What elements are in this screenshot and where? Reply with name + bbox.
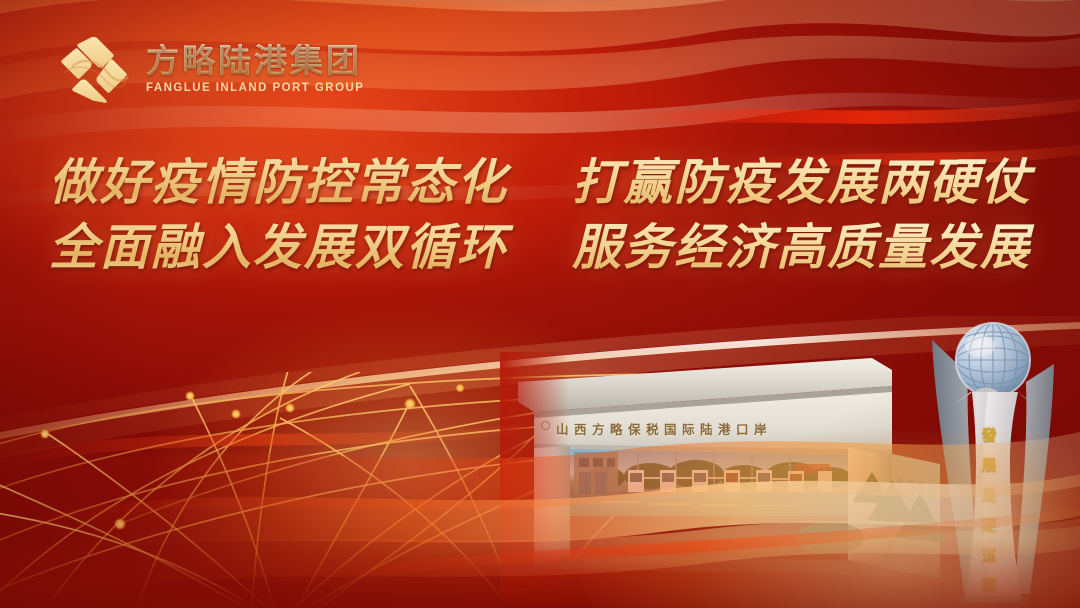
banner-poster: 山西方略保税国际陆港口岸	[0, 0, 1080, 608]
headline-line-2b: 服务经济高质量发展	[572, 218, 1031, 276]
brand-logo[interactable]: 方略陆港集团 FANGLUE INLAND PORT GROUP	[56, 33, 364, 105]
brand-name-en: FANGLUE INLAND PORT GROUP	[146, 82, 364, 94]
headline-line-1a: 做好疫情防控常态化	[49, 153, 508, 211]
fanglue-diamond-logo-icon	[56, 33, 132, 105]
headline-line-2a: 全面融入发展双循环	[49, 218, 508, 276]
headline-line-2: 全面融入发展双循环 服务经济高质量发展	[0, 215, 1080, 280]
headline-line-1: 做好疫情防控常态化 打赢防疫发展两硬仗	[0, 150, 1080, 215]
headline-line-1b: 打赢防疫发展两硬仗	[572, 153, 1031, 211]
brand-name-cn: 方略陆港集团	[146, 44, 364, 79]
headline-block: 做好疫情防控常态化 打赢防疫发展两硬仗 全面融入发展双循环 服务经济高质量发展	[0, 150, 1080, 279]
brand-text-block: 方略陆港集团 FANGLUE INLAND PORT GROUP	[146, 44, 364, 95]
